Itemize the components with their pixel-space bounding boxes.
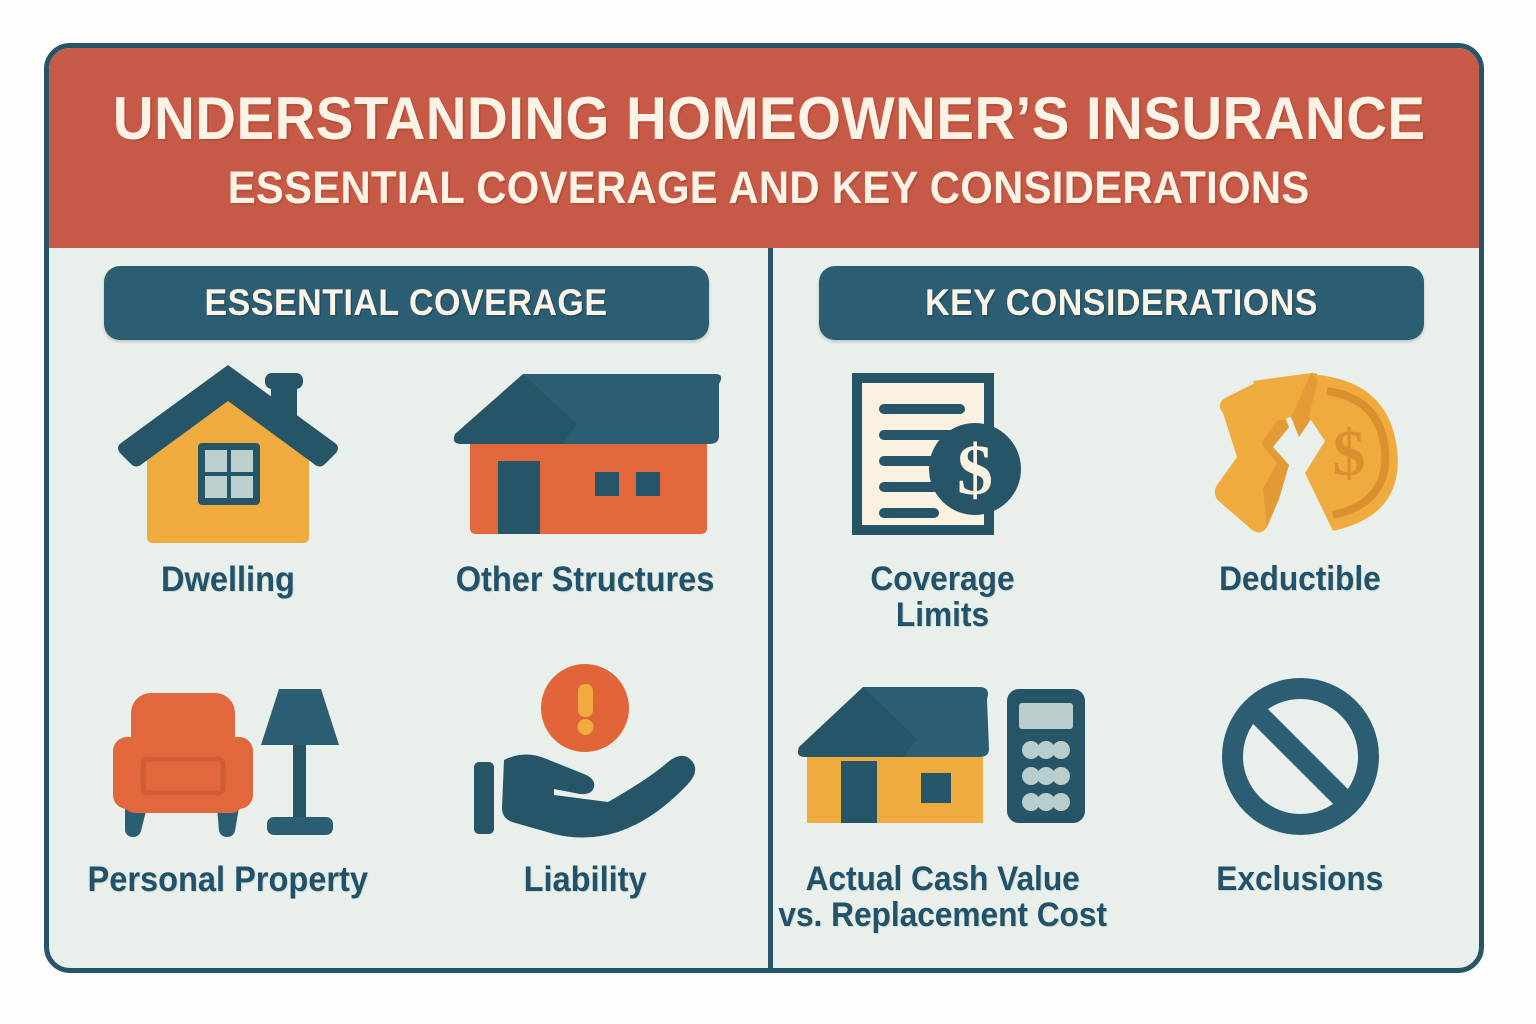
item-label: Other Structures	[456, 561, 715, 598]
item-deductible[interactable]: $ Deductible	[1122, 354, 1480, 654]
armchair-lamp-icon	[49, 654, 407, 859]
barn-icon	[407, 354, 765, 559]
column-essential-coverage: ESSENTIAL COVERAGE	[49, 248, 764, 973]
key-considerations-grid: $ Coverage Limits	[764, 354, 1479, 954]
hand-alert-icon	[407, 654, 765, 859]
page-subtitle: ESSENTIAL COVERAGE AND KEY CONSIDERATION…	[228, 165, 1310, 210]
section-header-essential-coverage: ESSENTIAL COVERAGE	[104, 266, 709, 340]
page-title: UNDERSTANDING HOMEOWNER’S INSURANCE	[113, 89, 1426, 149]
header-banner: UNDERSTANDING HOMEOWNER’S INSURANCE ESSE…	[44, 43, 1484, 248]
item-exclusions[interactable]: Exclusions	[1122, 654, 1480, 954]
column-key-considerations: KEY CONSIDERATIONS	[764, 248, 1479, 973]
item-dwelling[interactable]: Dwelling	[49, 354, 407, 654]
section-header-key-considerations: KEY CONSIDERATIONS	[819, 266, 1424, 340]
item-personal-property[interactable]: Personal Property	[49, 654, 407, 954]
section-title-label: KEY CONSIDERATIONS	[925, 282, 1318, 324]
item-label: Personal Property	[88, 861, 368, 898]
item-label: Coverage Limits	[871, 561, 1015, 633]
item-actual-cash-value[interactable]: Actual Cash Value vs. Replacement Cost	[764, 654, 1122, 954]
item-label: Actual Cash Value vs. Replacement Cost	[778, 861, 1107, 933]
item-label: Exclusions	[1217, 861, 1384, 897]
item-label: Deductible	[1219, 561, 1381, 597]
house-calculator-icon	[764, 654, 1122, 859]
essential-coverage-grid: Dwelling	[49, 354, 764, 954]
item-label: Dwelling	[161, 561, 295, 598]
document-dollar-icon: $	[764, 354, 1122, 559]
section-title-label: ESSENTIAL COVERAGE	[205, 282, 608, 324]
broken-coin-icon: $	[1122, 354, 1480, 559]
content-area: ESSENTIAL COVERAGE	[49, 248, 1479, 973]
item-coverage-limits[interactable]: $ Coverage Limits	[764, 354, 1122, 654]
item-liability[interactable]: Liability	[407, 654, 765, 954]
house-icon	[49, 354, 407, 559]
item-other-structures[interactable]: Other Structures	[407, 354, 765, 654]
infographic-stage: UNDERSTANDING HOMEOWNER’S INSURANCE ESSE…	[0, 0, 1536, 1024]
prohibition-icon	[1122, 654, 1480, 859]
svg-text:$: $	[1332, 417, 1365, 490]
svg-text:$: $	[957, 430, 993, 510]
infographic-card: UNDERSTANDING HOMEOWNER’S INSURANCE ESSE…	[44, 43, 1484, 973]
item-label: Liability	[524, 861, 647, 898]
